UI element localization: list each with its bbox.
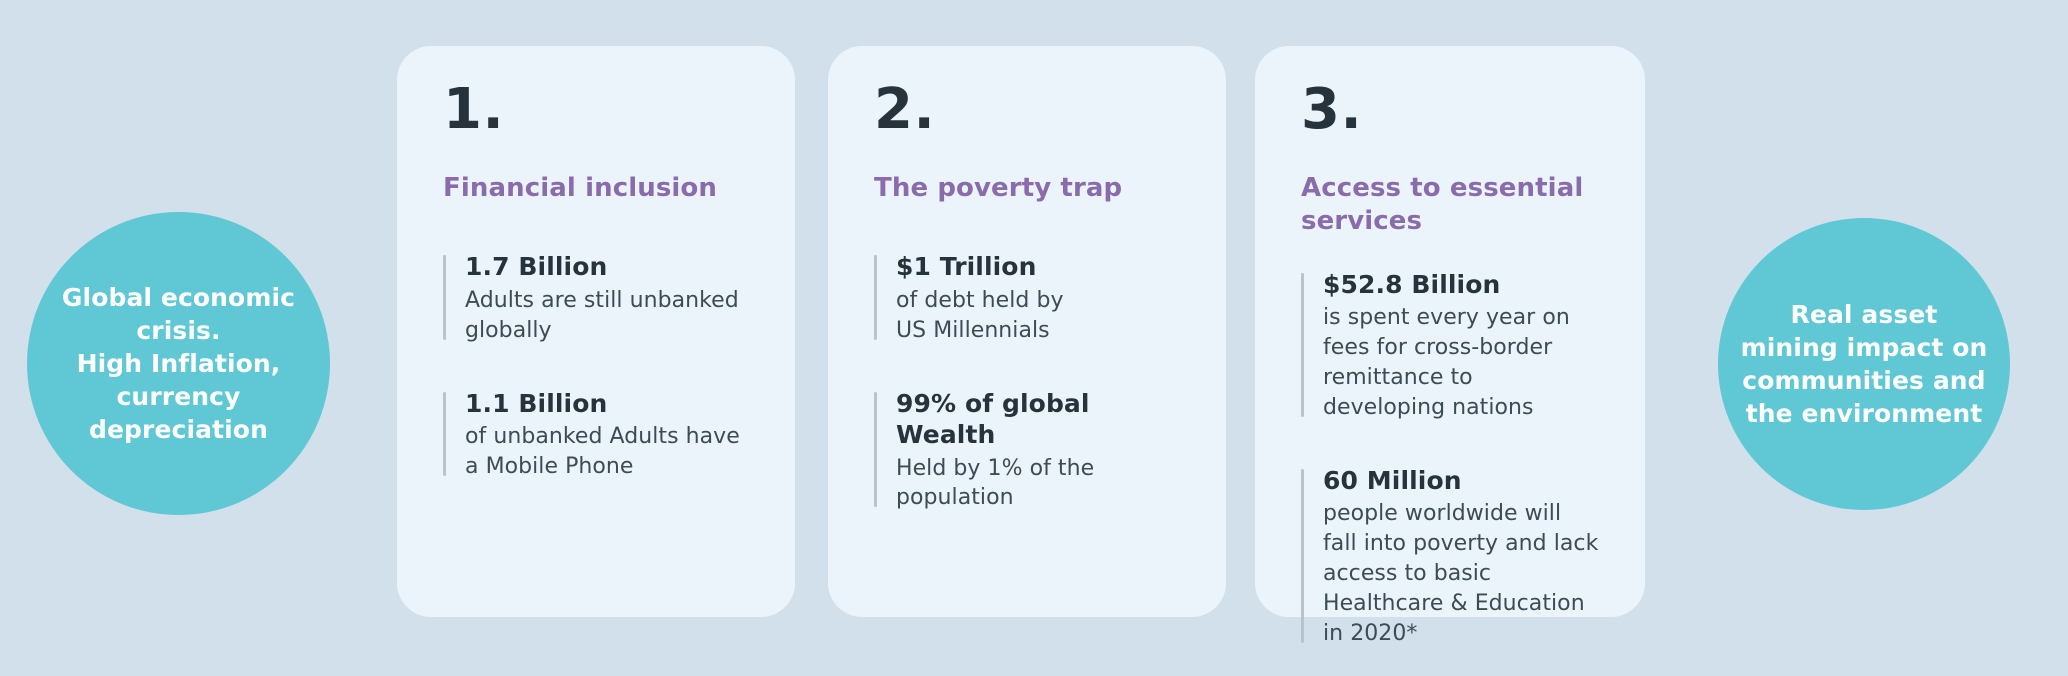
card-3-title: Access to essential services <box>1301 172 1599 239</box>
card-1-number: 1. <box>443 82 749 138</box>
card-1-stat-2: 1.1 Billion of unbanked Adults have a Mo… <box>443 388 749 482</box>
card-1-stat-1-value: 1.7 Billion <box>465 251 749 283</box>
right-context-circle: Real asset mining impact on communities … <box>1718 218 2010 510</box>
right-circle-text: Real asset mining impact on communities … <box>1738 298 1990 430</box>
problem-card-3: 3. Access to essential services $52.8 Bi… <box>1255 46 1645 617</box>
card-3-stat-2-desc: people worldwide will fall into poverty … <box>1323 499 1599 649</box>
card-3-stat-1-value: $52.8 Billion <box>1323 269 1599 301</box>
card-2-title: The poverty trap <box>874 172 1174 205</box>
card-3-stat-2-value: 60 Million <box>1323 465 1599 497</box>
card-3-stat-2: 60 Million people worldwide will fall in… <box>1301 465 1599 649</box>
card-2-stat-1-value: $1 Trillion <box>896 251 1180 283</box>
card-2-stat-2-desc: Held by 1% of the population <box>896 454 1180 514</box>
card-3-number: 3. <box>1301 82 1599 138</box>
infographic-board: Global economic crisis. High Inflation, … <box>0 0 2068 676</box>
problem-card-1: 1. Financial inclusion 1.7 Billion Adult… <box>397 46 795 617</box>
card-1-stat-2-value: 1.1 Billion <box>465 388 749 420</box>
left-circle-text: Global economic crisis. High Inflation, … <box>53 281 304 446</box>
card-3-stat-1: $52.8 Billion is spent every year on fee… <box>1301 269 1599 423</box>
card-3-stat-1-desc: is spent every year on fees for cross-bo… <box>1323 303 1599 423</box>
card-2-stat-2-value: 99% of global Wealth <box>896 388 1180 451</box>
problem-card-2: 2. The poverty trap $1 Trillion of debt … <box>828 46 1226 617</box>
card-1-stat-1-desc: Adults are still unbanked globally <box>465 286 749 346</box>
left-context-circle: Global economic crisis. High Inflation, … <box>27 212 330 515</box>
card-2-stat-1: $1 Trillion of debt held by US Millennia… <box>874 251 1180 345</box>
card-2-stat-2: 99% of global Wealth Held by 1% of the p… <box>874 388 1180 514</box>
card-1-title: Financial inclusion <box>443 172 743 205</box>
card-2-number: 2. <box>874 82 1180 138</box>
card-1-stat-1: 1.7 Billion Adults are still unbanked gl… <box>443 251 749 345</box>
card-1-stat-2-desc: of unbanked Adults have a Mobile Phone <box>465 422 749 482</box>
card-2-stat-1-desc: of debt held by US Millennials <box>896 286 1180 346</box>
